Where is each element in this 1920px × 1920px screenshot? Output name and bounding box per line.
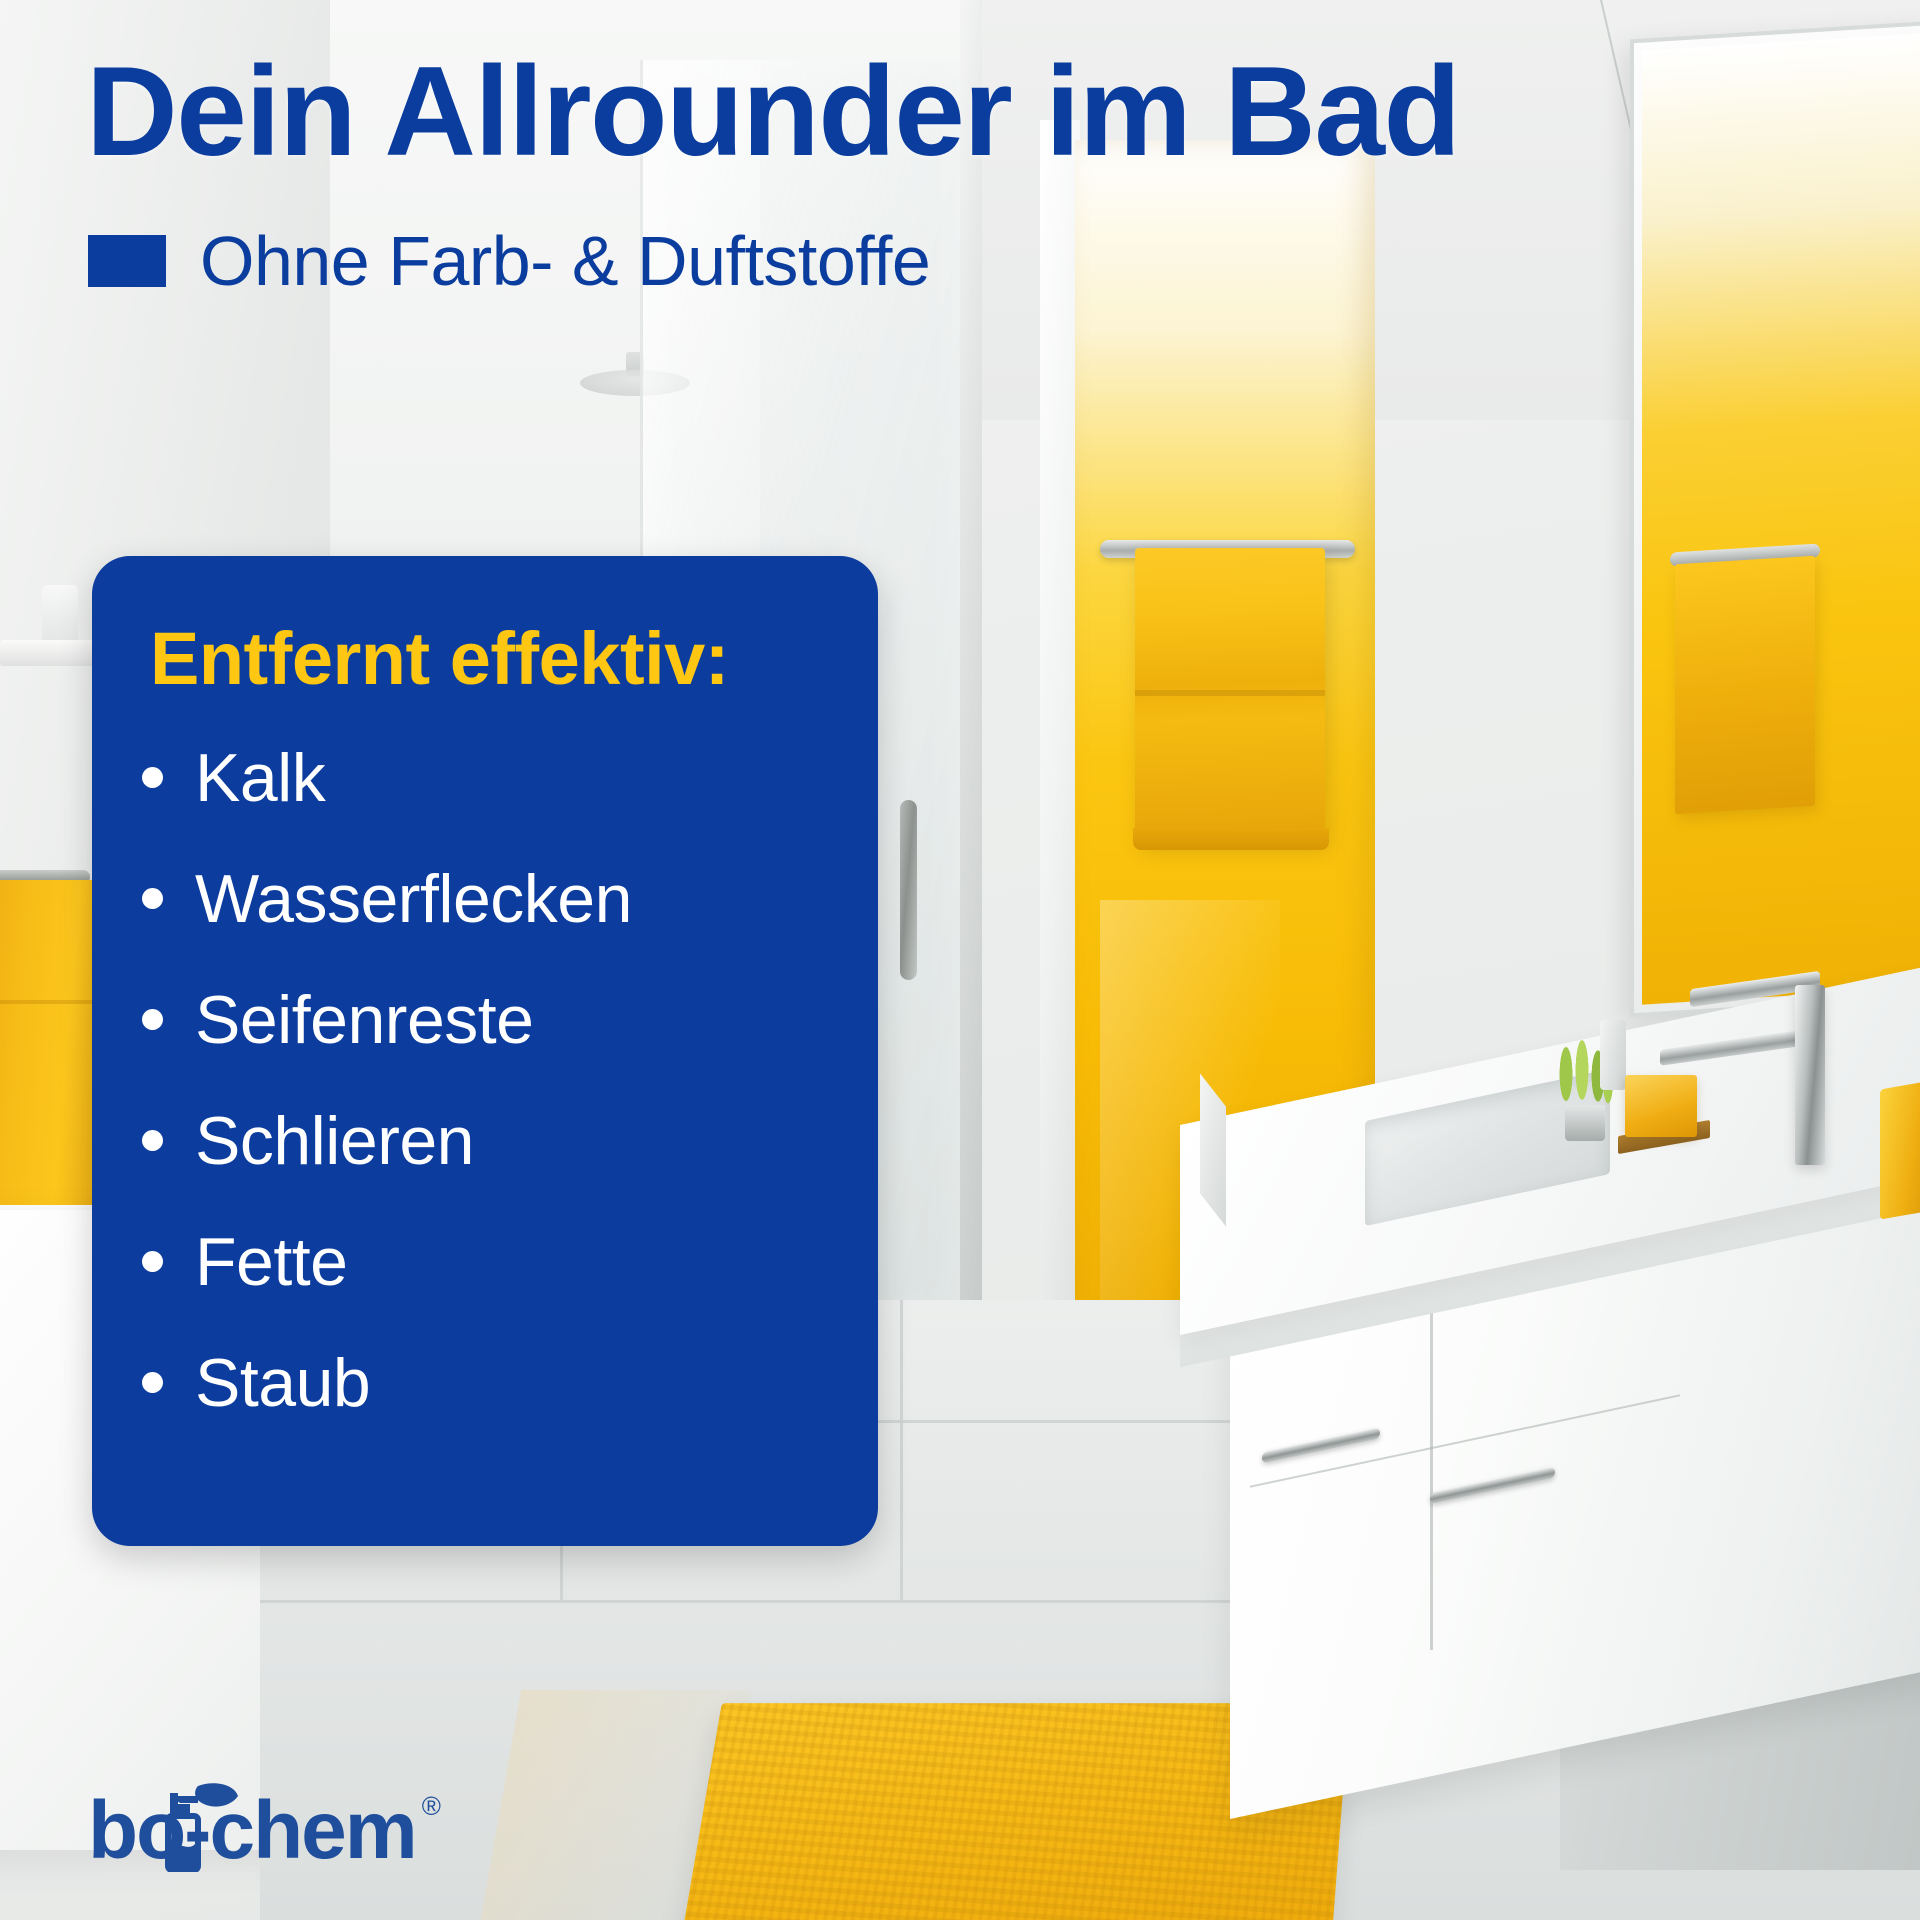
benefits-card-title: Entfernt effektiv: [150, 618, 878, 699]
shower-door-handle [900, 800, 917, 980]
logo-text-before: b [88, 1785, 136, 1876]
spray-bottle-leaf-icon [158, 1780, 242, 1872]
benefits-list: Kalk Wasserflecken Seifenreste Schlieren… [92, 717, 878, 1443]
subline-row: Ohne Farb- & Duftstoffe [88, 226, 930, 296]
list-item: Wasserflecken [92, 838, 878, 959]
registered-trademark-symbol: ® [422, 1791, 441, 1822]
towel-fold [1135, 690, 1325, 696]
accent-wall-edge [1040, 120, 1080, 1340]
soap-dispenser [1600, 1020, 1626, 1090]
promo-banner: Dein Allrounder im Bad Ohne Farb- & Duft… [0, 0, 1920, 1920]
plant-pot [1565, 1105, 1605, 1141]
list-item: Staub [92, 1322, 878, 1443]
page-subtitle: Ohne Farb- & Duftstoffe [200, 226, 930, 296]
bullet-dot-icon [142, 888, 163, 909]
chrome-faucet [1795, 985, 1825, 1165]
list-item-label: Staub [195, 1349, 370, 1417]
shelf-bottle [42, 585, 78, 645]
list-item-label: Kalk [195, 744, 325, 812]
list-item-label: Seifenreste [195, 986, 533, 1054]
bullet-dot-icon [142, 767, 163, 788]
wall-mirror [1630, 21, 1920, 1018]
list-item-label: Wasserflecken [195, 865, 632, 933]
bullet-dot-icon [142, 1372, 163, 1393]
mirror-reflection [1642, 33, 1920, 1004]
benefits-card: Entfernt effektiv: Kalk Wasserflecken Se… [92, 556, 878, 1546]
bullet-dot-icon [142, 1251, 163, 1272]
list-item: Kalk [92, 717, 878, 838]
yellow-bottle [1880, 1080, 1920, 1219]
mirrored-yellow-towel [1675, 556, 1815, 815]
towel-hem [1133, 828, 1329, 850]
bullet-dot-icon [142, 1009, 163, 1030]
list-item: Seifenreste [92, 959, 878, 1080]
list-item: Fette [92, 1201, 878, 1322]
brand-logo-wordmark: bo-chem [88, 1794, 416, 1868]
list-item-label: Schlieren [195, 1107, 474, 1175]
bullet-dot-icon [142, 1130, 163, 1151]
shower-door-track [960, 0, 982, 1320]
list-item-label: Fette [195, 1228, 347, 1296]
tile-grout-line [900, 1300, 903, 1600]
list-item: Schlieren [92, 1080, 878, 1201]
brand-logo[interactable]: bo-chem ® [88, 1791, 441, 1868]
page-title: Dein Allrounder im Bad [86, 48, 1460, 175]
blue-square-bullet-icon [88, 235, 166, 287]
amber-soap-bar [1625, 1075, 1697, 1137]
